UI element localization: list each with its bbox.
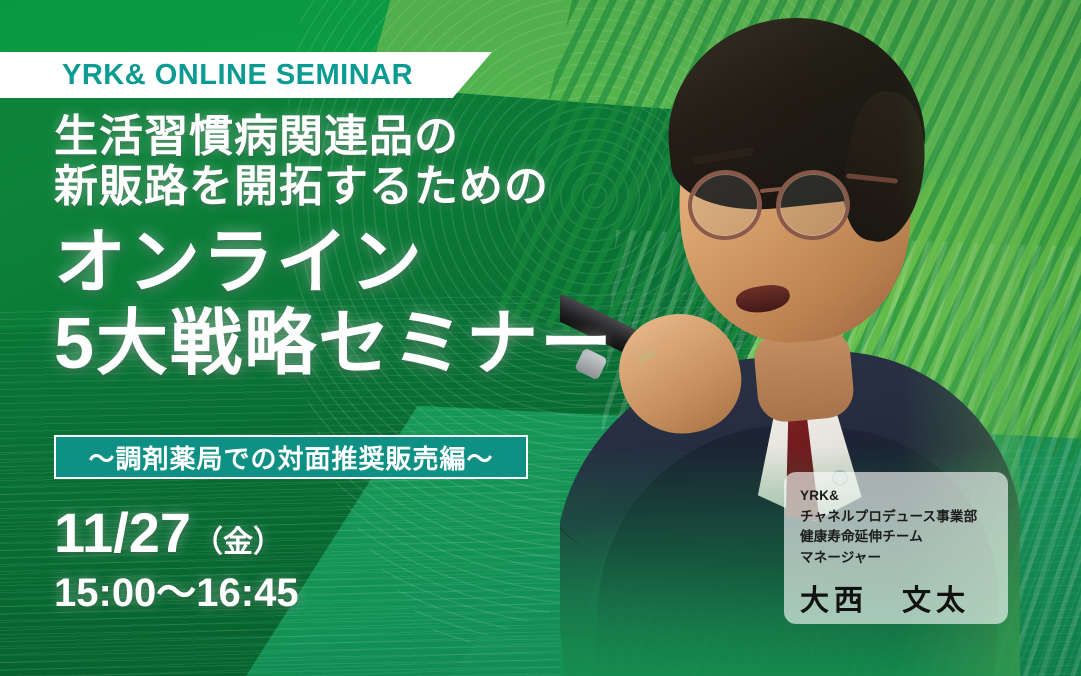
date-row: 11/27 （金） <box>54 505 299 561</box>
speaker-company: YRK& <box>800 486 1008 507</box>
subtitle-box: ～調剤薬局での対面推奨販売編～ <box>54 435 528 479</box>
speaker-name: 大西 文太 <box>800 577 1008 619</box>
speaker-division: チャネルプロデュース事業部 <box>800 507 1008 528</box>
headline-block: 生活習慣病関連品の 新販路を開拓するための オンライン 5大戦略セミナー <box>54 112 654 385</box>
subtitle-label: ～調剤薬局での対面推奨販売編～ <box>88 439 493 476</box>
seminar-ribbon: YRK& ONLINE SEMINAR <box>0 52 492 98</box>
schedule-block: 11/27 （金） 15:00〜16:45 <box>54 505 299 613</box>
seminar-banner: YRK& ONLINE SEMINAR 生活習慣病関連品の 新販路を開拓するため… <box>0 0 1081 676</box>
speaker-title: マネージャー <box>800 548 1008 569</box>
event-time: 15:00〜16:45 <box>54 573 299 613</box>
ribbon-label: YRK& ONLINE SEMINAR <box>0 59 413 92</box>
main-title-line-2: 5大戦略セミナー <box>54 304 654 385</box>
event-day-of-week: （金） <box>193 517 283 561</box>
event-date: 11/27 <box>54 505 191 561</box>
lead-line-1: 生活習慣病関連品の <box>54 112 654 162</box>
main-title-line-1: オンライン <box>54 223 654 304</box>
speaker-card: YRK& チャネルプロデュース事業部 健康寿命延伸チーム マネージャー 大西 文… <box>784 472 1008 624</box>
lead-line-2: 新販路を開拓するための <box>54 162 654 212</box>
speaker-team: 健康寿命延伸チーム <box>800 527 1008 548</box>
